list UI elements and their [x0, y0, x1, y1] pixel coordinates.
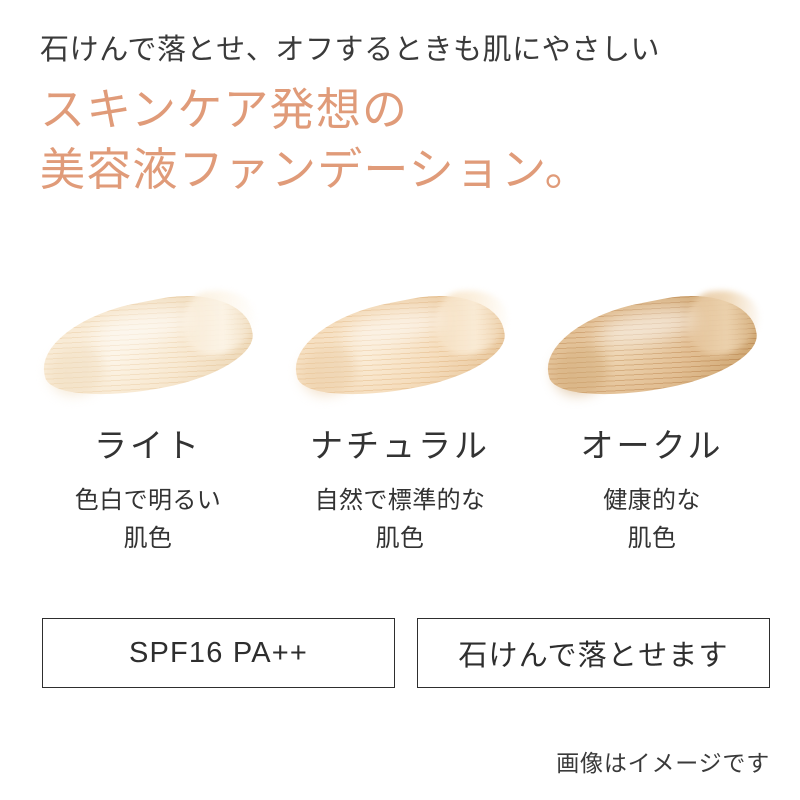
feature-box-row: SPF16 PA++ 石けんで落とせます — [42, 618, 770, 688]
feature-box-soap-removable: 石けんで落とせます — [417, 618, 770, 688]
headline-line-1: スキンケア発想の — [40, 80, 770, 140]
headline-line-2: 美容液ファンデーション。 — [40, 140, 770, 200]
shade-description-natural-line2: 肌色 — [315, 520, 486, 559]
shade-item-natural: ナチュラル 自然で標準的な 肌色 — [274, 280, 526, 559]
shade-description-natural-line1: 自然で標準的な — [315, 482, 486, 521]
shade-name-light: ライト — [94, 426, 202, 466]
shade-description-light: 色白で明るい 肌色 — [75, 482, 221, 560]
shade-item-ochre: オークル 健康的な 肌色 — [526, 280, 778, 559]
shade-name-natural: ナチュラル — [310, 426, 490, 466]
shade-description-natural: 自然で標準的な 肌色 — [315, 482, 486, 560]
lede-text: 石けんで落とせ、オフするときも肌にやさしい — [40, 30, 770, 71]
swatch-wrapper-ochre — [537, 280, 767, 410]
swatch-wrapper-natural — [285, 280, 515, 410]
cream-swatch-light — [35, 283, 260, 410]
shade-description-ochre-line2: 肌色 — [603, 520, 701, 559]
headline-block: 石けんで落とせ、オフするときも肌にやさしい スキンケア発想の 美容液ファンデーシ… — [40, 30, 770, 201]
shade-description-light-line2: 肌色 — [75, 520, 221, 559]
feature-box-spf-label: SPF16 PA++ — [129, 637, 308, 670]
shade-description-ochre: 健康的な 肌色 — [603, 482, 701, 560]
shade-description-ochre-line1: 健康的な — [603, 482, 701, 521]
swatch-wrapper-light — [33, 280, 263, 410]
shade-name-ochre: オークル — [580, 426, 723, 466]
shade-item-light: ライト 色白で明るい 肌色 — [22, 280, 274, 559]
feature-box-soap-removable-label: 石けんで落とせます — [458, 632, 728, 674]
page-title: スキンケア発想の 美容液ファンデーション。 — [40, 80, 770, 201]
feature-box-spf: SPF16 PA++ — [42, 618, 395, 688]
shade-list: ライト 色白で明るい 肌色 ナチュラル 自然で標準的な 肌色 — [22, 280, 778, 559]
cream-swatch-ochre — [539, 283, 764, 410]
image-disclaimer-note: 画像はイメージです — [556, 744, 770, 778]
product-feature-banner: 石けんで落とせ、オフするときも肌にやさしい スキンケア発想の 美容液ファンデーシ… — [0, 0, 800, 800]
cream-swatch-natural — [287, 283, 512, 410]
shade-description-light-line1: 色白で明るい — [75, 482, 221, 521]
